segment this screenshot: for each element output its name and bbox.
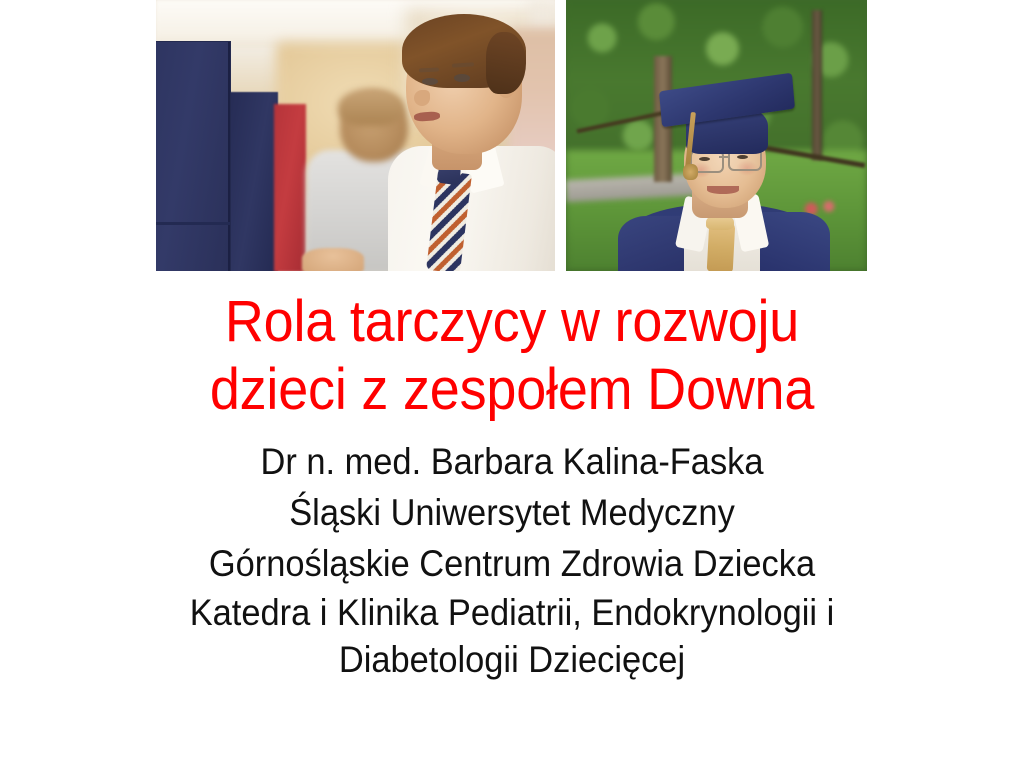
photo-tassel-knot	[683, 164, 698, 180]
subtitle-line-author: Dr n. med. Barbara Kalina-Faska	[36, 436, 988, 487]
slide-subtitle: Dr n. med. Barbara Kalina-Faska Śląski U…	[0, 436, 1024, 683]
photo-subject-eye-right	[454, 74, 470, 82]
title-line-1: Rola tarczycy w rozwoju	[36, 288, 988, 356]
title-line-2: dzieci z zespołem Downa	[36, 356, 988, 424]
photo-monitor-back-second	[230, 92, 278, 271]
photo-monitor-seam	[156, 222, 230, 225]
graduation-photo	[566, 0, 867, 271]
photo-subject-eye-left	[422, 78, 438, 85]
photo-tree-trunk-right	[812, 10, 822, 160]
photo-second-student-hair	[338, 88, 404, 126]
classroom-photo	[156, 0, 555, 271]
presentation-slide: Rola tarczycy w rozwoju dzieci z zespołe…	[0, 0, 1024, 768]
photo-graduate-mouth	[707, 186, 739, 194]
slide-title: Rola tarczycy w rozwoju dzieci z zespołe…	[0, 288, 1024, 424]
photo-monitor-back-front	[156, 42, 230, 271]
photo-graduate-eye-left	[699, 157, 710, 161]
photo-red-partition	[274, 104, 306, 271]
photo-subject-hair-side	[486, 32, 526, 94]
photo-subject-hand	[302, 248, 364, 271]
subtitle-line-university: Śląski Uniwersytet Medyczny	[36, 487, 988, 538]
subtitle-line-department-1: Katedra i Klinika Pediatrii, Endokrynolo…	[36, 589, 988, 636]
image-band	[0, 0, 1024, 272]
photo-graduate-glasses-bridge	[719, 156, 730, 158]
photo-subject-nose	[414, 90, 430, 106]
subtitle-line-center: Górnośląskie Centrum Zdrowia Dziecka	[36, 538, 988, 589]
photo-graduate-eye-right	[737, 155, 748, 159]
subtitle-line-department-2: Diabetologii Dziecięcej	[36, 636, 988, 683]
